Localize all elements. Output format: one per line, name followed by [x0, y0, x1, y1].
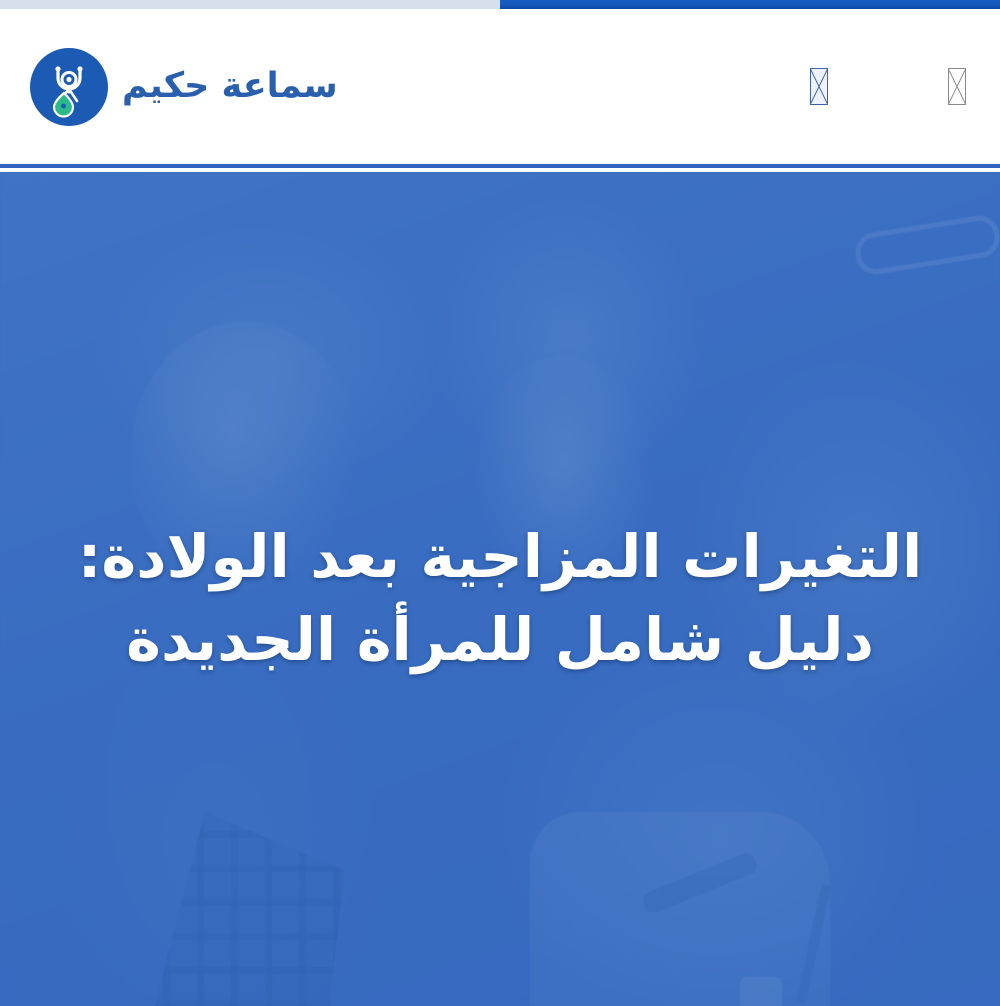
header-tools: [810, 68, 966, 105]
reading-progress-bar: [0, 0, 1000, 9]
stethoscope-droplet-logo-icon: [30, 48, 108, 126]
site-brand[interactable]: سماعة حكيم: [30, 48, 338, 126]
article-title: التغيرات المزاجية بعد الولادة: دليل شامل…: [28, 516, 972, 681]
menu-icon[interactable]: [948, 68, 966, 105]
search-icon[interactable]: [810, 68, 828, 105]
site-header: سماعة حكيم: [0, 9, 1000, 168]
site-brand-name: سماعة حكيم: [122, 69, 338, 104]
article-page: سماعة حكيم التغيرات المزاجية بعد الولادة…: [0, 0, 1000, 1006]
hero-content: التغيرات المزاجية بعد الولادة: دليل شامل…: [0, 172, 1000, 1006]
article-hero: التغيرات المزاجية بعد الولادة: دليل شامل…: [0, 172, 1000, 1006]
reading-progress-fill: [500, 0, 1000, 9]
